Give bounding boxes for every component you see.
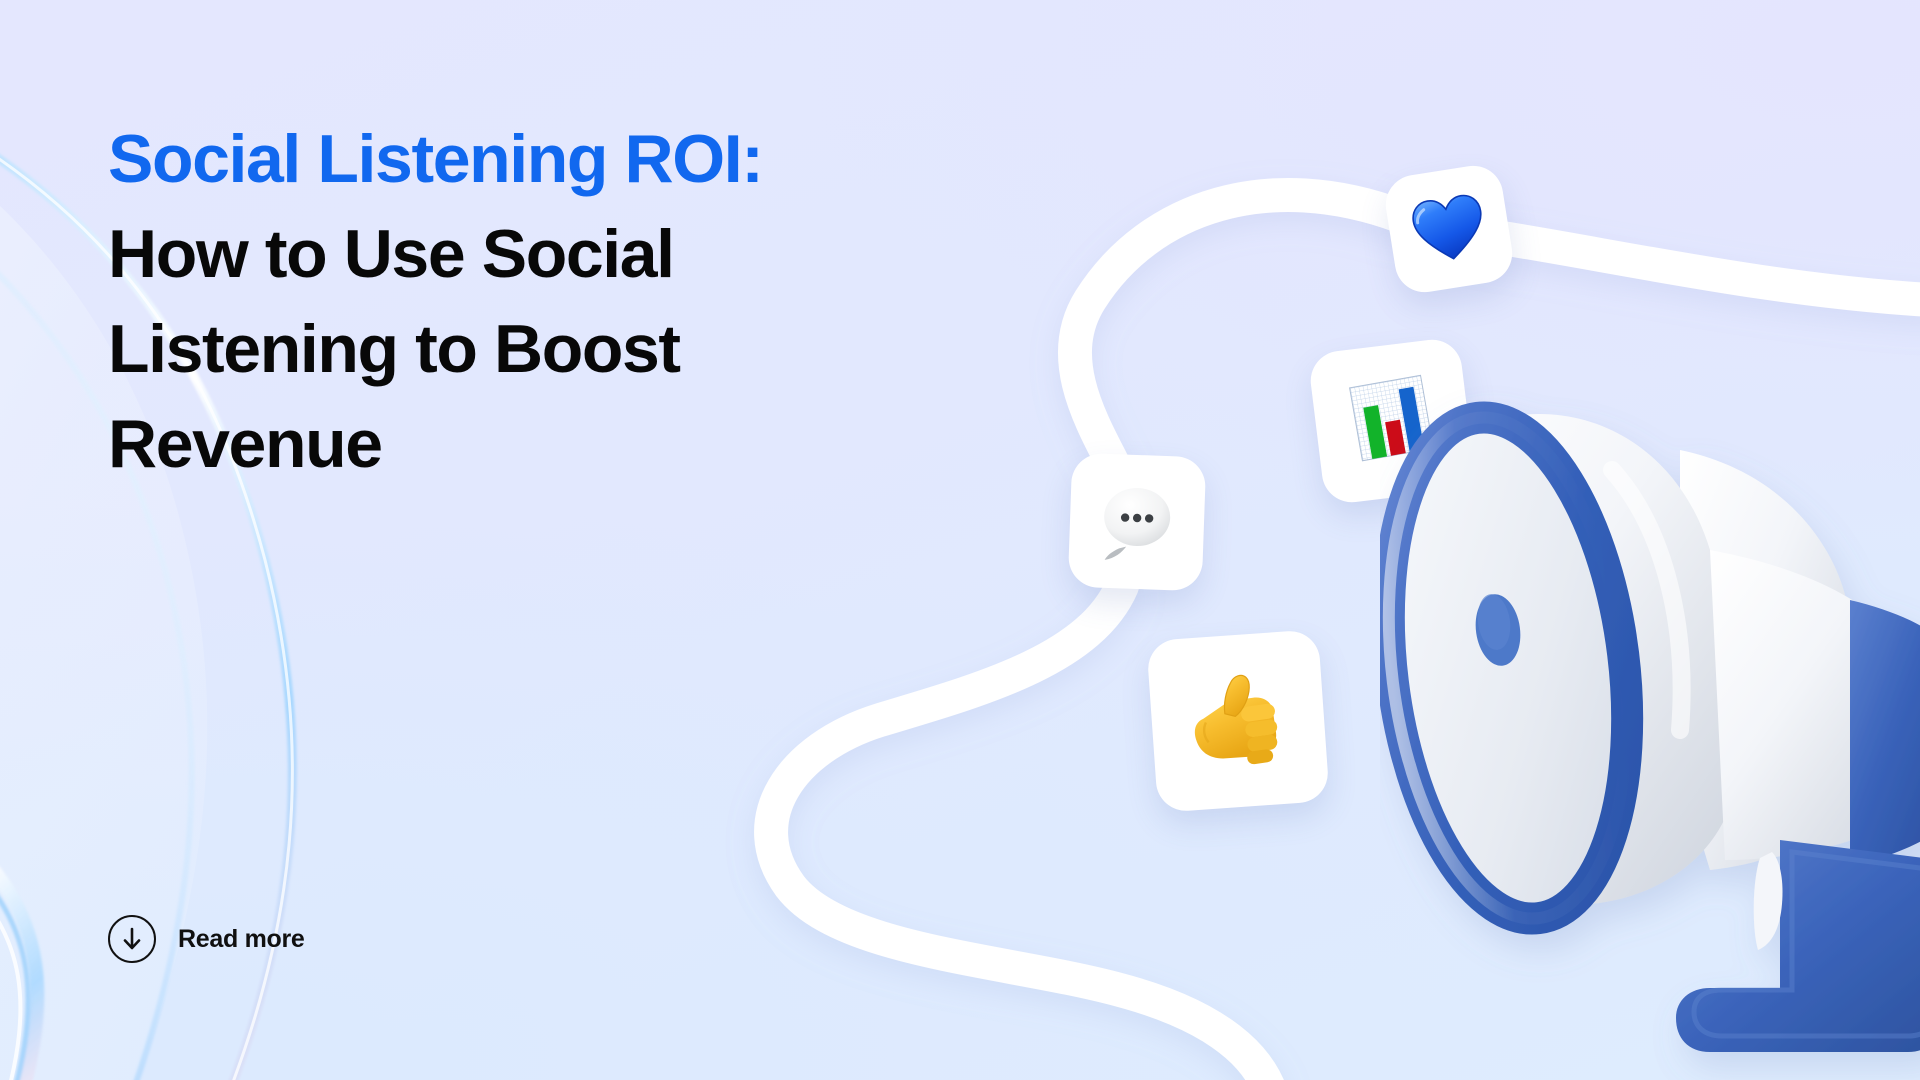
emoji-card-thumbs-up [1146,629,1330,813]
blue-heart-icon [1408,190,1490,268]
title-eyebrow: Social Listening ROI: [108,112,968,207]
headline-block: Social Listening ROI: How to Use Social … [108,112,968,492]
page-title: Social Listening ROI: How to Use Social … [108,112,968,492]
title-line-3: Revenue [108,397,968,492]
megaphone-illustration [1380,300,1920,1080]
emoji-card-comment [1068,453,1207,592]
emoji-card-heart [1381,161,1516,296]
thumbs-up-icon [1178,662,1297,780]
title-line-1: How to Use Social [108,207,968,302]
read-more-label: Read more [178,925,305,954]
arrow-down-circle-icon[interactable] [108,915,156,963]
title-line-2: Listening to Boost [108,302,968,397]
read-more-button[interactable]: Read more [108,915,305,963]
promo-banner: Social Listening ROI: How to Use Social … [0,0,1920,1080]
speech-balloon-icon [1093,478,1182,567]
